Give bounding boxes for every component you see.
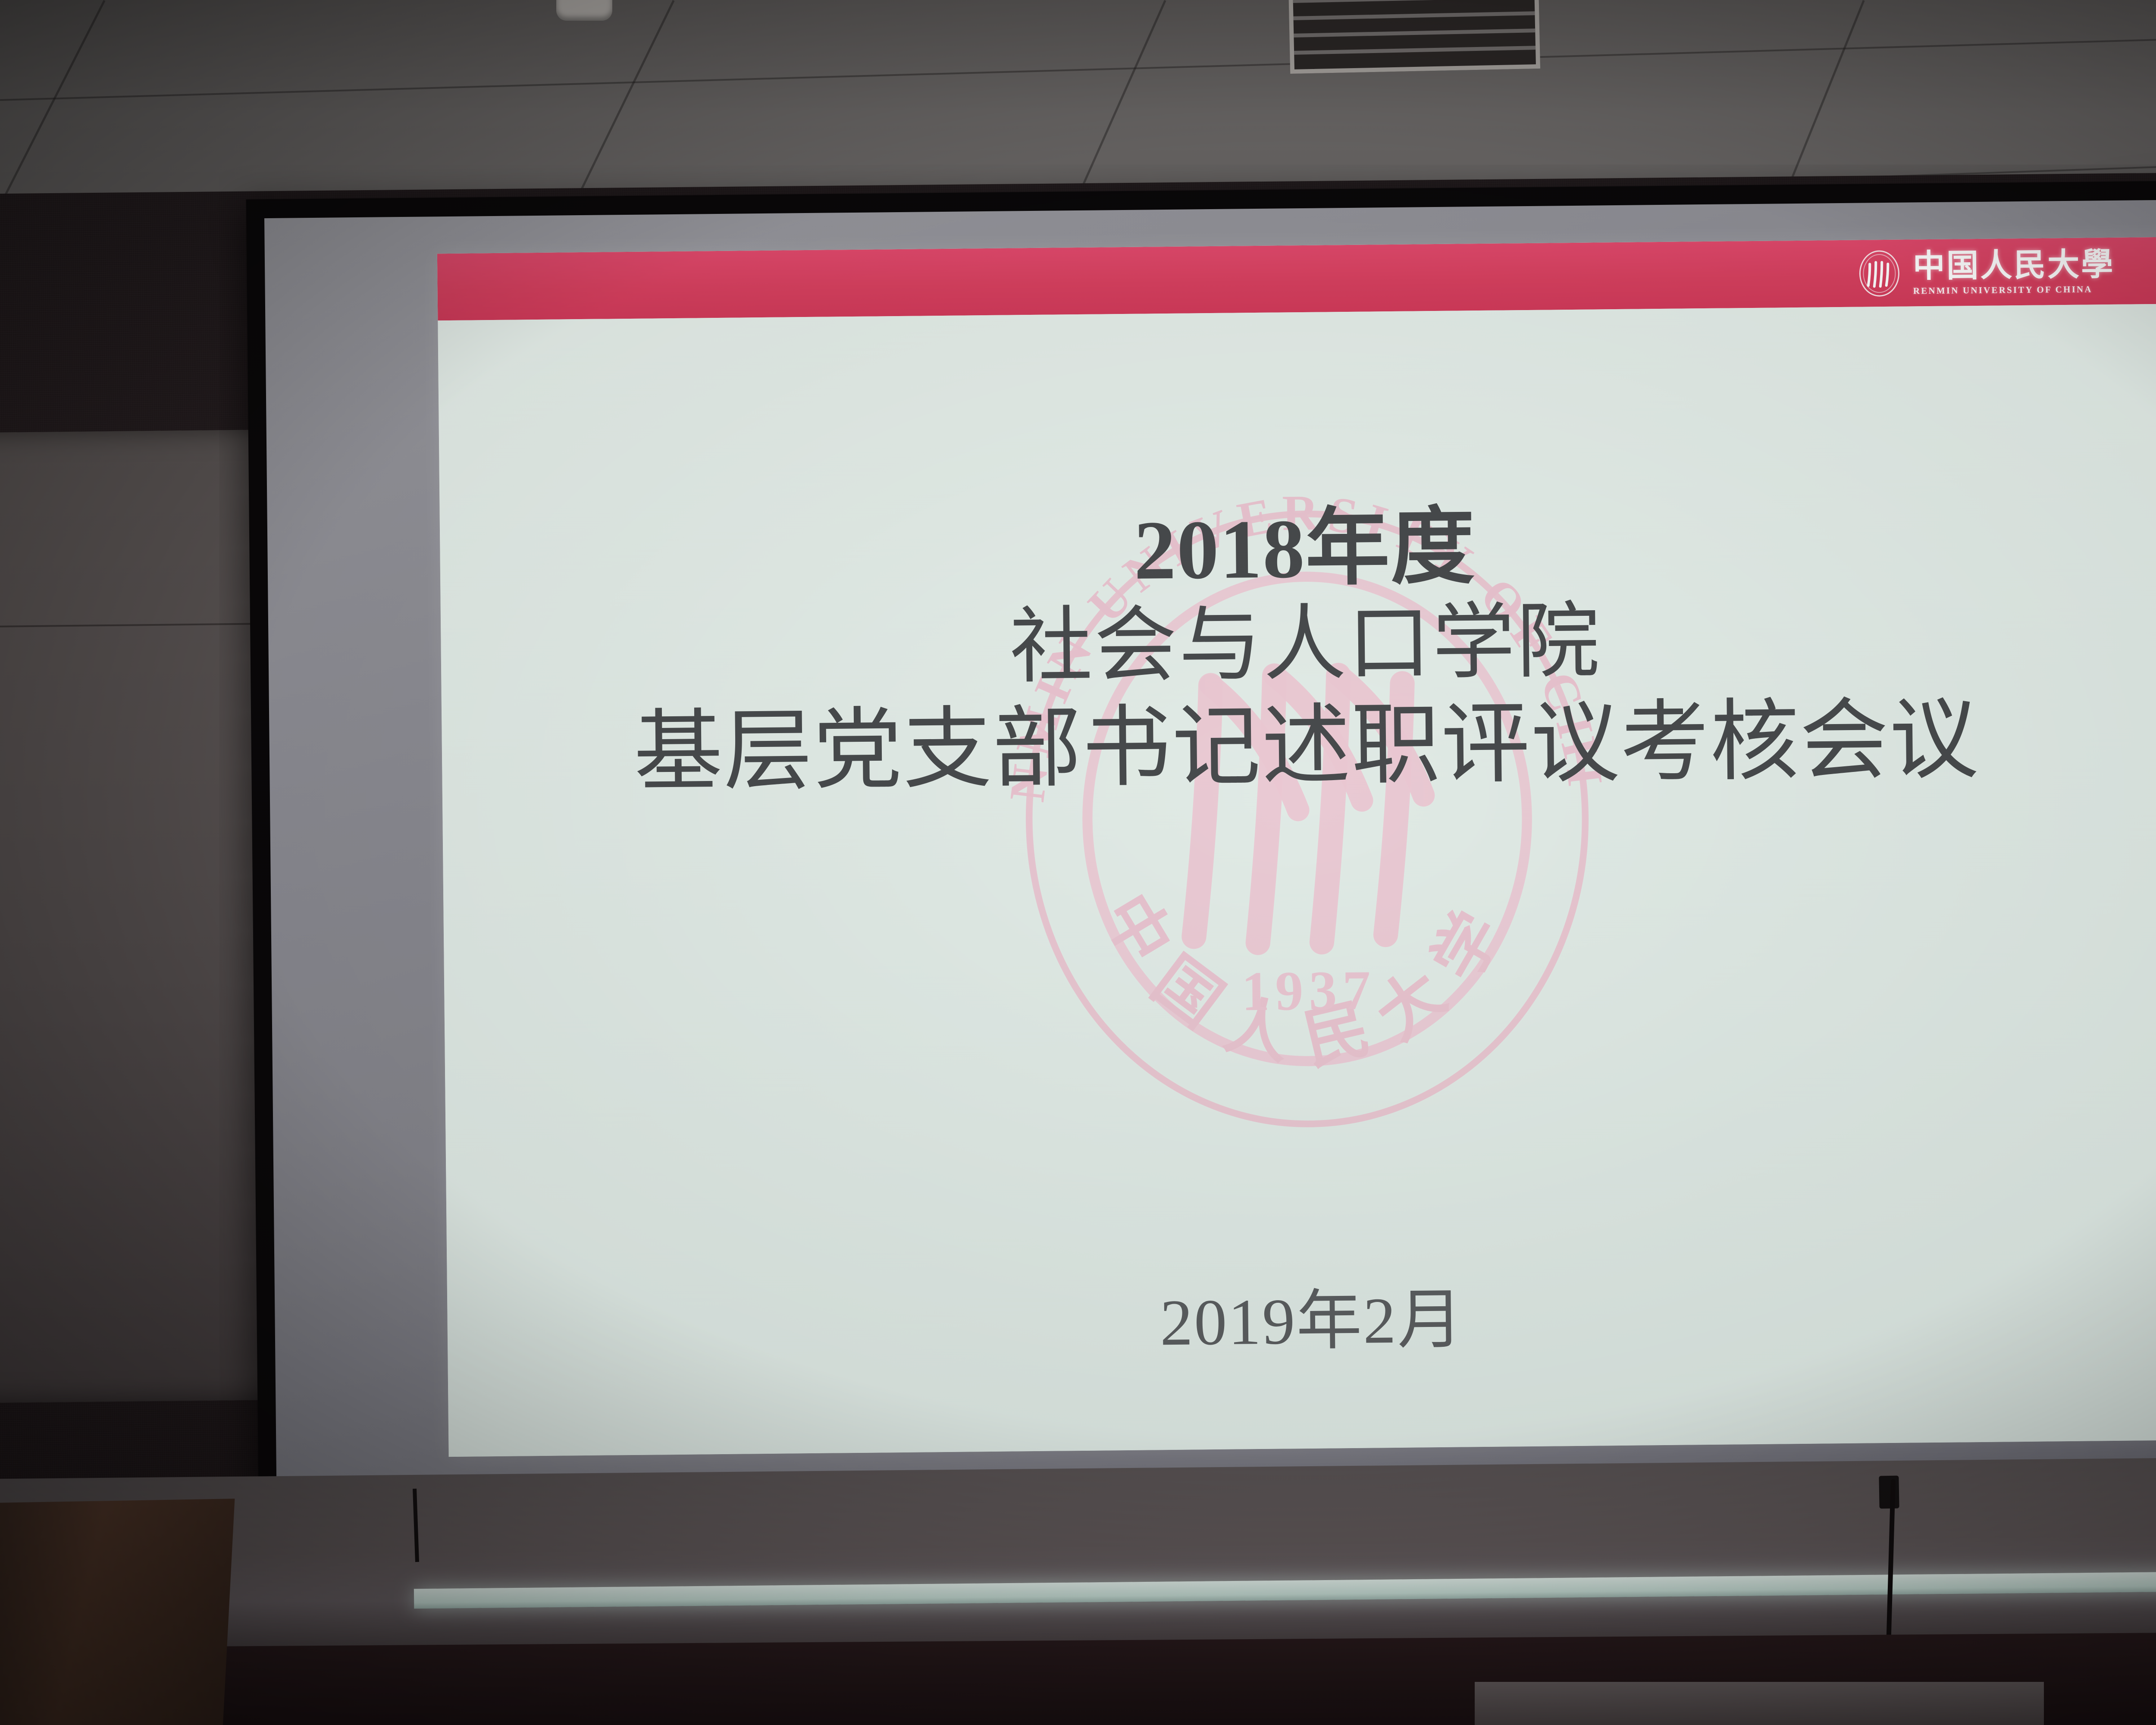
slide-title-line-2: 社会与人口学院: [441, 588, 2156, 702]
projector-screen-surface: 中国人民大學 RENMIN UNIVERSITY OF CHINA: [264, 199, 2156, 1482]
cable-clip: [1879, 1476, 1899, 1509]
slide-body: RENMIN UNIVERSITY OF CHINA 中国人民大学: [438, 304, 2156, 1457]
svg-text:1937: 1937: [1241, 959, 1376, 1022]
air-vent-icon: [1288, 0, 1540, 74]
photo-scene: □ ɜ: [0, 0, 2156, 1725]
university-name-block: 中国人民大學 RENMIN UNIVERSITY OF CHINA: [1913, 248, 2115, 295]
university-name-cn: 中国人民大學: [1913, 248, 2115, 282]
slide-date: 2019年2月: [447, 1259, 2156, 1371]
slide-title-stack: 2018年度 社会与人口学院 基层党支部书记述职评议考核会议: [440, 494, 2156, 807]
slide-title-line-3: 基层党支部书记述职评议考核会议: [442, 686, 2156, 807]
ceiling-light-sensor: [556, 0, 612, 21]
university-seal-icon: [1857, 249, 1902, 298]
slide-title-line-1: 2018年度: [440, 494, 2156, 605]
university-name-en: RENMIN UNIVERSITY OF CHINA: [1913, 285, 2093, 295]
university-logo-lockup: 中国人民大學 RENMIN UNIVERSITY OF CHINA: [1857, 247, 2115, 298]
left-wall-panel: [0, 430, 290, 1403]
svg-text:中国人民大学: 中国人民大学: [1089, 879, 1529, 1080]
projector-screen-frame: 中国人民大學 RENMIN UNIVERSITY OF CHINA: [246, 180, 2156, 1502]
lectern: [0, 1499, 235, 1725]
front-desk-edge: [1475, 1682, 2044, 1725]
projected-slide: 中国人民大學 RENMIN UNIVERSITY OF CHINA: [437, 237, 2156, 1457]
